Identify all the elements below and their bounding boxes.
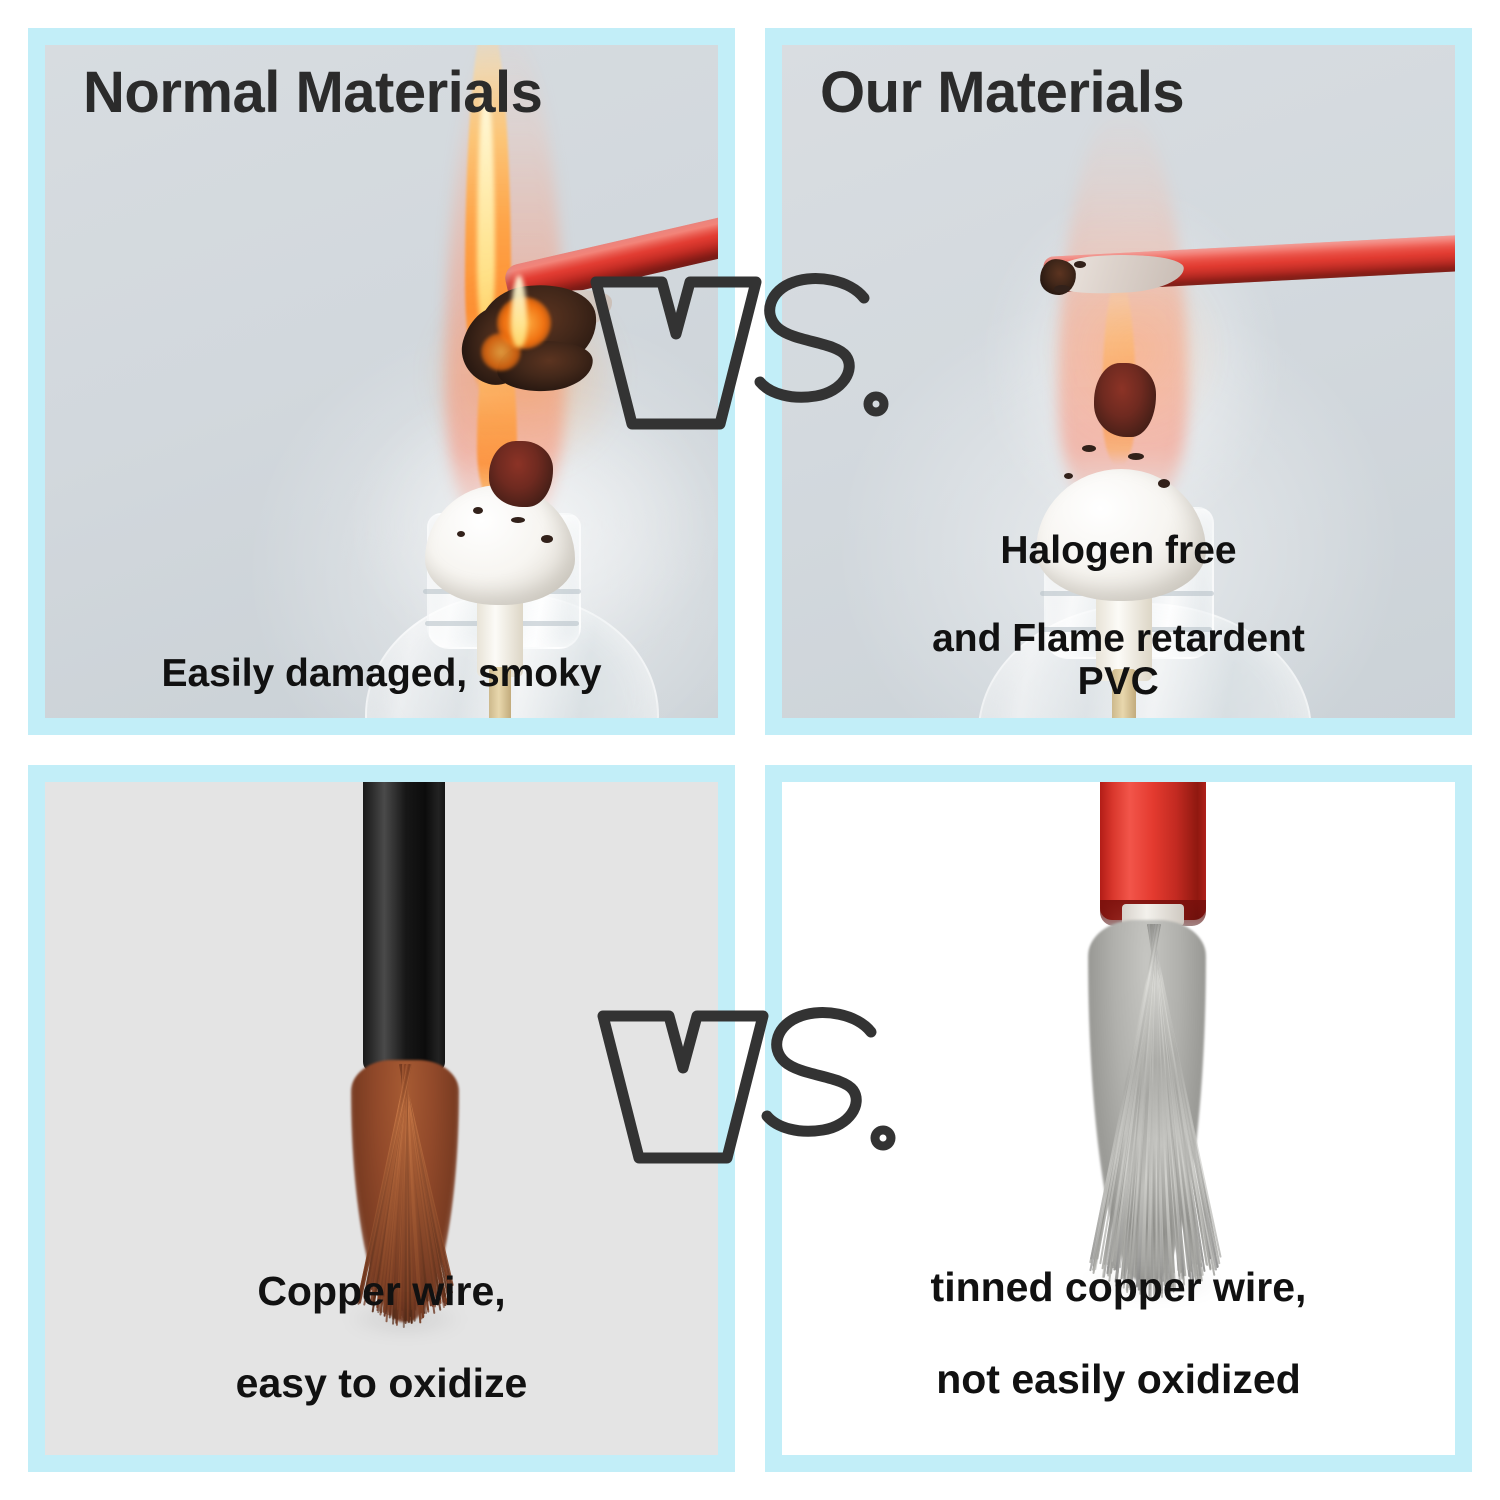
caption-our-materials: Halogen free and Flame retardent PVC [782,486,1455,704]
caption-normal-materials: Easily damaged, smoky [45,652,718,696]
soot-fleck-2 [511,517,525,523]
burnt-cotton-tip [489,441,553,507]
soot-fleck-1 [1082,445,1096,452]
soot-fleck-2 [1128,453,1144,460]
black-wire-jacket [363,782,445,1072]
soot-fleck-4 [457,531,465,537]
caption-line-1: Halogen free [1000,529,1236,572]
caption-pvc-label: PVC [1078,660,1160,703]
caption-copper-wire: Copper wire, easy to oxidize [45,1223,718,1407]
caption-line-2: easy to oxidize [236,1360,528,1406]
photo-our-materials-flame: Our Materials Halogen free and Flame ret… [782,45,1455,718]
burnt-cotton-tip [1094,363,1156,437]
comparison-board: Normal Materials Easily damaged, smoky [0,0,1500,1500]
soot-on-wire-2 [1074,261,1086,268]
panel-our-materials: Our Materials Halogen free and Flame ret… [765,28,1472,735]
caption-line-2: and Flame retardent [932,617,1305,660]
comparison-grid: Normal Materials Easily damaged, smoky [28,28,1472,1472]
photo-normal-materials-flame: Normal Materials Easily damaged, smoky [45,45,718,718]
panel-tinned-copper-wire: tinned copper wire, not easily oxidized [765,765,1472,1472]
photo-copper-wire: Copper wire, easy to oxidize [45,782,718,1455]
caption-tinned-copper-wire: tinned copper wire, not easily oxidized [782,1219,1455,1403]
soot-on-wire-1 [1054,285,1070,293]
soot-fleck-4 [1064,473,1073,479]
soot-fleck-1 [473,507,483,514]
flame-scene-normal [45,45,718,718]
panel-title-our-materials: Our Materials [820,63,1184,124]
panel-copper-wire: Copper wire, easy to oxidize [28,765,735,1472]
caption-line-1: Copper wire, [257,1268,505,1314]
caption-line-1: tinned copper wire, [931,1264,1307,1310]
panel-normal-materials: Normal Materials Easily damaged, smoky [28,28,735,735]
soot-fleck-3 [541,535,553,543]
photo-tinned-copper-wire: tinned copper wire, not easily oxidized [782,782,1455,1455]
panel-title-normal-materials: Normal Materials [83,63,542,124]
caption-line-2: not easily oxidized [936,1356,1301,1402]
